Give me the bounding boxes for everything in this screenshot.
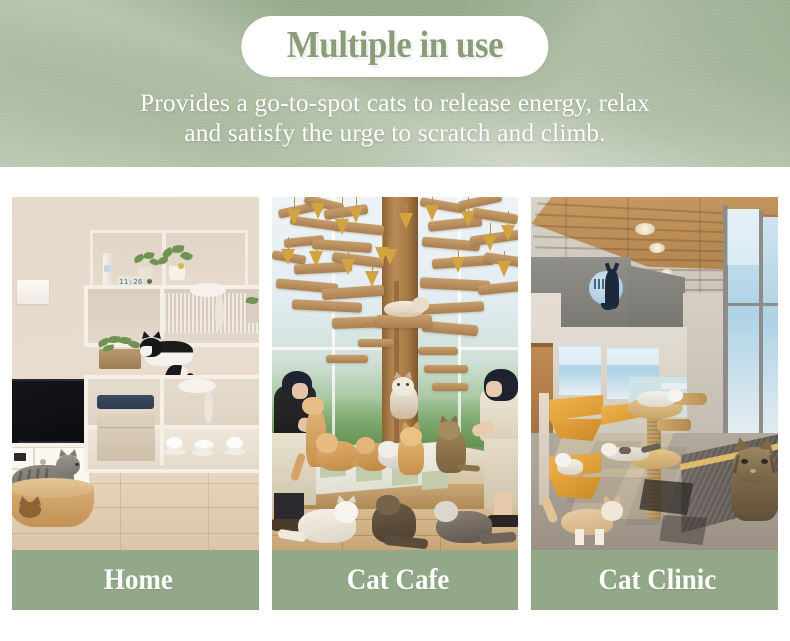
use-case-card-cat-cafe[interactable]: Cat Cafe xyxy=(272,197,519,610)
promo-banner: Multiple in use Provides a go-to-spot ca… xyxy=(0,0,790,641)
subtitle: Provides a go-to-spot cats to release en… xyxy=(0,88,790,148)
card-label-home: Home xyxy=(104,563,173,597)
subtitle-line-1: Provides a go-to-spot cats to release en… xyxy=(34,88,756,118)
header-banner: Multiple in use Provides a go-to-spot ca… xyxy=(0,0,790,167)
card-label-band-home: Home xyxy=(12,550,259,610)
page-title: Multiple in use xyxy=(287,23,503,67)
television xyxy=(12,379,90,445)
home-scene-image: 11:26 xyxy=(12,197,259,550)
cat-cafe-scene-image xyxy=(272,197,519,550)
card-label-cat-clinic: Cat Clinic xyxy=(599,563,717,597)
storage-basket xyxy=(97,413,155,461)
window-glass-far-right xyxy=(763,217,778,443)
card-label-cat-cafe: Cat Cafe xyxy=(347,563,450,597)
subtitle-line-2: and satisfy the urge to scratch and clim… xyxy=(34,118,756,148)
use-case-card-home[interactable]: 11:26 xyxy=(12,197,259,610)
card-label-band-cat-cafe: Cat Cafe xyxy=(272,550,519,610)
card-label-band-cat-clinic: Cat Clinic xyxy=(531,550,778,610)
use-case-card-grid: 11:26 xyxy=(12,197,778,610)
wall-panel-icon xyxy=(17,280,49,304)
folded-blanket xyxy=(97,395,154,409)
use-case-card-cat-clinic[interactable]: Cat Clinic xyxy=(531,197,778,610)
cat-clinic-scene-image xyxy=(531,197,778,550)
title-pill: Multiple in use xyxy=(241,16,548,77)
